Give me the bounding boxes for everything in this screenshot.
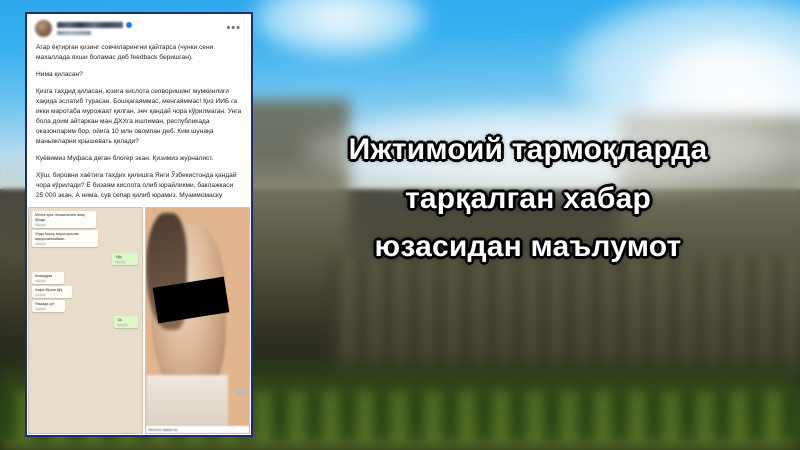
headline-line-3: юзасидан маълумот: [268, 223, 788, 272]
photo-caption: Кислота чаккан юз: [146, 426, 249, 433]
post-paragraph: Қизга тахдид қиласан, юзига кислота сепв…: [36, 87, 242, 147]
post-paragraph: Агар ёқтирган қизинг совчиларингни қайта…: [36, 43, 242, 63]
chat-bubble: Хафа бўлми йўқ: [32, 286, 72, 298]
pillow-region: [146, 375, 228, 433]
post-author-block: [57, 22, 221, 35]
chat-bubble: Энди бирор нарса қилсам афсусланмайман: [32, 230, 98, 247]
post-attachments: Менга эрга тегмаслигинг аниқ бўлди Энди …: [27, 207, 251, 435]
verified-badge-icon: [126, 22, 132, 28]
chat-bubble: Келиждим: [32, 272, 64, 284]
post-header: •••: [27, 14, 251, 39]
chat-bubble: Ок: [114, 316, 138, 328]
headline-overlay: Ижтимоий тармоқларда тарқалган хабар юза…: [268, 126, 788, 272]
post-timestamp-redacted: [57, 31, 91, 35]
headline-line-2: тарқалган хабар: [268, 175, 788, 224]
post-paragraph: Куёвимиз Муфаса деган блогер экан. Қизим…: [36, 154, 242, 164]
post-paragraph: Нима қиласан?: [36, 70, 242, 80]
avatar[interactable]: [35, 20, 52, 37]
post-text-body: Агар ёқтирган қизинг совчиларингни қайта…: [27, 39, 251, 207]
headline-line-1: Ижтимоий тармоқларда: [268, 126, 788, 175]
chat-bubble: Яхшида кут: [32, 300, 65, 312]
chat-bubble: Хўр: [112, 253, 138, 265]
chat-screenshot[interactable]: Менга эрга тегмаслигинг аниқ бўлди Энди …: [28, 207, 143, 434]
author-name-redacted[interactable]: [57, 22, 123, 28]
author-name-row: [57, 22, 221, 28]
photo-watermark: [235, 391, 246, 395]
post-paragraph: Хўш, бировни хаётига тахдих қилишга Янги…: [36, 171, 242, 201]
social-post-card: ••• Агар ёқтирган қизинг совчиларингни қ…: [25, 12, 253, 437]
victim-photo[interactable]: Кислота чаккан юз: [145, 207, 250, 434]
chat-bubble: Менга эрга тегмаслигинг аниқ бўлди: [32, 211, 96, 228]
more-options-icon[interactable]: •••: [226, 24, 243, 32]
